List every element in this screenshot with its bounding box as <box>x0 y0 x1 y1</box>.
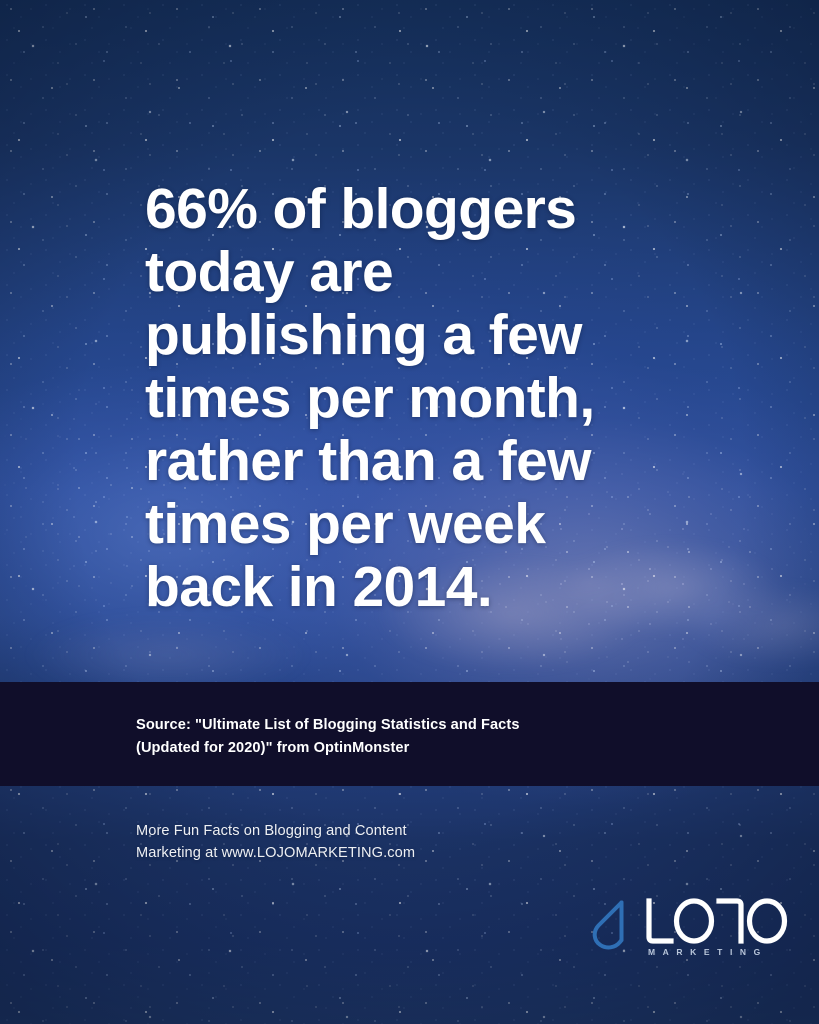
headline-statistic: 66% of bloggers today are publishing a f… <box>145 178 665 619</box>
footer-callout: More Fun Facts on Blogging and Content M… <box>136 820 566 864</box>
logo-tagline: MARKETING <box>645 946 790 958</box>
droplet-icon <box>592 900 636 950</box>
lojo-marketing-logo: MARKETING <box>592 898 772 970</box>
poster: 66% of bloggers today are publishing a f… <box>0 0 819 1024</box>
logo-text-group: MARKETING <box>645 898 790 958</box>
logo-wordmark <box>645 898 790 944</box>
source-attribution: Source: "Ultimate List of Blogging Stati… <box>136 714 696 760</box>
